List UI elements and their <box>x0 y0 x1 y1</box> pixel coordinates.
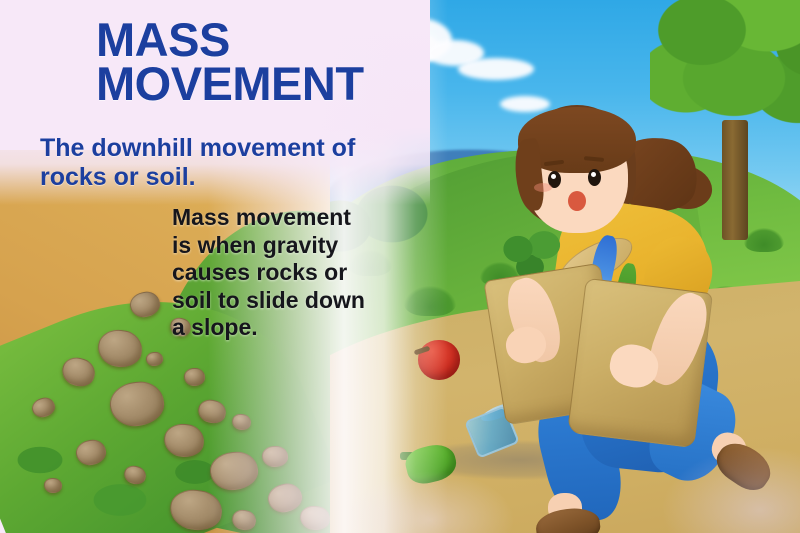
page-title-line-2: MOVEMENT <box>96 62 396 106</box>
grass-tuft <box>404 286 456 316</box>
subtitle-definition: The downhill movement of rocks or soil. <box>40 134 370 191</box>
cloud <box>458 58 534 80</box>
grass-tuft <box>744 228 784 252</box>
open-mouth <box>568 191 586 211</box>
page-title: MASS MOVEMENT <box>96 18 396 105</box>
right-eye <box>588 169 601 186</box>
right-scene-girl-on-path <box>330 0 800 533</box>
body-explanation: Mass movement is when gravity causes roc… <box>172 204 372 342</box>
girl-character <box>460 95 720 515</box>
blush <box>534 183 552 192</box>
text-block: MASS MOVEMENT The downhill movement of r… <box>0 0 400 533</box>
poster-canvas: MASS MOVEMENT The downhill movement of r… <box>0 0 800 533</box>
page-title-line-1: MASS <box>96 18 396 62</box>
